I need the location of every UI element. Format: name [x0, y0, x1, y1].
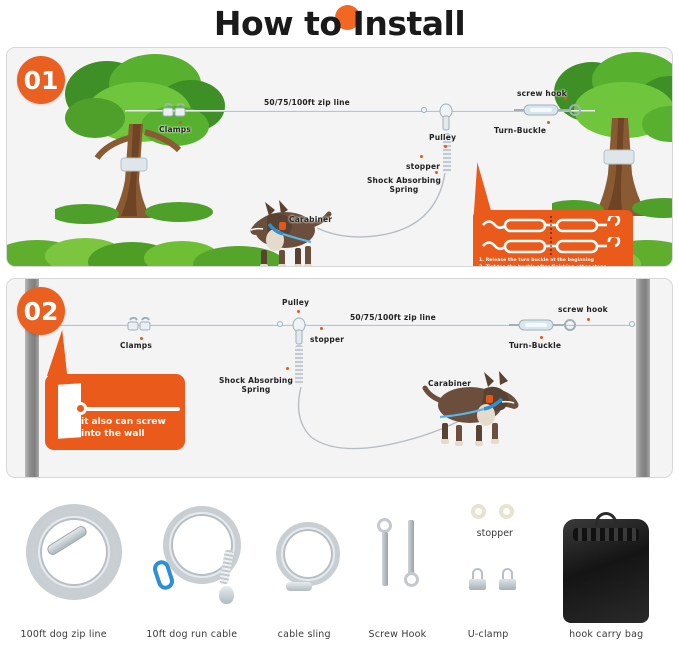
callout-02-text: it also can screw into the wall — [81, 416, 181, 440]
leader-dot-pulley-01 — [444, 145, 447, 148]
tree-left-svg — [55, 52, 225, 232]
stopper-caption: stopper — [463, 528, 527, 539]
label-clamps-02: Clamps — [120, 341, 152, 350]
leader-dot-screwhook-02 — [587, 318, 590, 321]
stopper-ring-icon — [499, 504, 514, 519]
label-stopper-02: stopper — [310, 335, 344, 344]
leader-dot-clamps-01 — [179, 121, 182, 124]
dog-svg-01 — [239, 196, 334, 267]
label-shock-spring-01: Shock Absorbing Spring — [362, 176, 446, 195]
u-clamp-icon — [499, 568, 516, 594]
leader-dot-spring-02 — [286, 367, 289, 370]
product-run-cable-art — [127, 490, 256, 629]
screw-eye-icon — [404, 572, 419, 587]
product-zip-line: 100ft dog zip line — [0, 490, 127, 645]
clamps-svg-01 — [162, 103, 188, 119]
tree-left — [55, 52, 225, 232]
label-turnbuckle-01: Turn-Buckle — [494, 126, 546, 135]
callout-tail-01 — [468, 161, 491, 215]
pulley-01 — [439, 103, 453, 137]
install-step-panel-01: 01 Clamps 50/75/100ft zip line Pulley st… — [6, 47, 673, 267]
product-caption: 10ft dog run cable — [146, 629, 237, 645]
label-screwhook-01: screw hook — [517, 89, 567, 98]
u-clamp-saddle — [469, 579, 486, 590]
leader-dot-clamps-02 — [140, 337, 143, 340]
clamp-pair-01 — [162, 103, 188, 123]
label-pulley-01: Pulley — [429, 133, 456, 142]
product-contents-row: 100ft dog zip line 10ft dog run cable ca… — [0, 486, 679, 645]
pulley-svg-01 — [439, 103, 453, 133]
pulley-svg-02 — [292, 317, 306, 347]
step-badge-01-label: 01 — [24, 66, 59, 95]
product-caption: hook carry bag — [569, 629, 643, 645]
label-turnbuckle-02: Turn-Buckle — [509, 341, 561, 350]
label-stopper-01: stopper — [406, 162, 440, 171]
wall-post-right — [636, 279, 650, 477]
product-carry-bag-art — [533, 490, 679, 629]
product-run-cable: 10ft dog run cable — [127, 490, 256, 645]
callout-02-line-1: it also can screw — [81, 416, 181, 428]
stopper-bead-02 — [277, 321, 283, 327]
leader-dot-stopper-01 — [420, 155, 423, 158]
label-clamps-01: Clamps — [159, 125, 191, 134]
callout-wall-screw: it also can screw into the wall — [45, 374, 185, 450]
callout-line-1: 1. Release the turn buckle at the beginn… — [479, 258, 627, 265]
callout-02-line-2: into the wall — [81, 428, 181, 440]
step-badge-01: 01 — [17, 56, 65, 104]
label-carabiner-02: Carabiner — [428, 379, 471, 388]
swivel-part — [219, 586, 234, 604]
product-screw-hook: Screw Hook — [352, 490, 443, 645]
step-badge-02: 02 — [17, 287, 65, 335]
screw-eye-icon — [377, 518, 392, 533]
wall-hook-eye-icon — [74, 402, 87, 415]
product-caption: U-clamp — [468, 629, 509, 645]
callout-line-2: 2. Tighten the buckle after finishing ot… — [479, 265, 627, 267]
leader-dot-spring-01 — [435, 171, 438, 174]
leader-dot-pulley-02 — [297, 310, 300, 313]
product-carry-bag: hook carry bag — [533, 490, 679, 645]
product-u-clamp: stopper U-clamp — [443, 490, 534, 645]
turnbuckle-01 — [512, 102, 584, 122]
turnbuckle-open-svg — [479, 216, 627, 235]
leader-dot-screwhook-01 — [564, 97, 567, 100]
turnbuckle-svg-01 — [512, 102, 584, 118]
product-zip-line-art — [0, 490, 127, 629]
wall-anchor-right-02 — [629, 321, 635, 327]
u-clamp-saddle — [499, 579, 516, 590]
label-carabiner-01: Carabiner — [289, 215, 332, 224]
page-header: How to Install — [0, 0, 679, 46]
stopper-ring-icon — [471, 504, 486, 519]
label-shock-spring-02: Shock Absorbing Spring — [214, 376, 298, 395]
callout-instruction-list: 1. Release the turn buckle at the beginn… — [479, 258, 627, 267]
leader-dot-stopper-02 — [320, 327, 323, 330]
carry-bag-drawstring — [573, 528, 639, 541]
label-pulley-02: Pulley — [282, 298, 309, 307]
turnbuckle-02 — [507, 317, 579, 337]
turnbuckle-diagram-open — [479, 216, 627, 235]
wall-hook-icon — [75, 407, 180, 411]
dog-illustration-01 — [239, 196, 334, 267]
coil-shape — [276, 522, 340, 586]
page-title: How to Install — [214, 4, 465, 43]
clamp-pair-02 — [127, 317, 153, 337]
coil-inner-shape — [33, 511, 115, 593]
screw-shaft — [382, 532, 388, 586]
product-cable-sling: cable sling — [256, 490, 352, 645]
stopper-bead-01 — [421, 107, 427, 113]
u-clamp-icon — [469, 568, 486, 594]
label-screwhook-02: screw hook — [558, 305, 608, 314]
turnbuckle-tight-svg — [479, 237, 627, 256]
product-caption: cable sling — [278, 629, 331, 645]
carry-bag-icon — [563, 519, 649, 623]
sling-ferrule — [286, 582, 312, 591]
label-zipline-01: 50/75/100ft zip line — [264, 98, 350, 107]
carry-bag-loop — [595, 512, 617, 526]
screw-shaft — [408, 520, 414, 574]
product-caption: 100ft dog zip line — [20, 629, 106, 645]
leader-dot-turnbuckle-01 — [547, 121, 550, 124]
product-u-clamp-art: stopper — [443, 490, 534, 629]
product-caption: Screw Hook — [369, 629, 427, 645]
turnbuckle-svg-02 — [507, 317, 579, 333]
label-zipline-02: 50/75/100ft zip line — [350, 313, 436, 322]
clamps-svg-02 — [127, 317, 153, 333]
step-badge-02-label: 02 — [24, 297, 59, 326]
turnbuckle-diagram-tight — [479, 237, 627, 256]
product-cable-sling-art — [256, 490, 352, 629]
callout-turnbuckle-instructions: 1. Release the turn buckle at the beginn… — [473, 210, 633, 267]
pulley-02 — [292, 317, 306, 351]
leader-dot-turnbuckle-02 — [540, 336, 543, 339]
product-screw-hook-art — [352, 490, 443, 629]
